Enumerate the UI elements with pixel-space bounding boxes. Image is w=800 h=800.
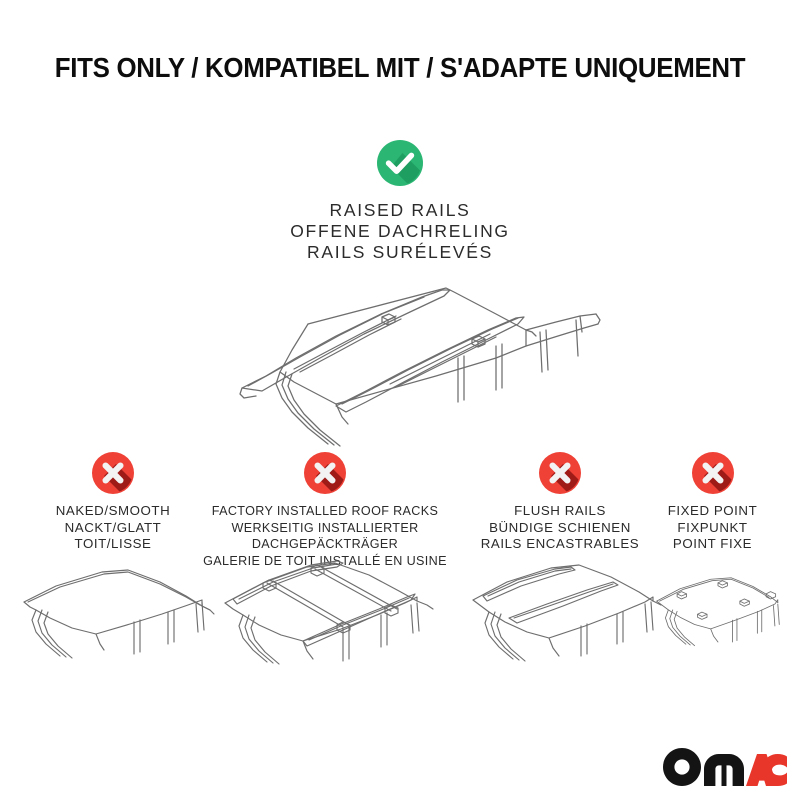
incompatible-label-fr: RAILS ENCASTRABLES [455, 536, 665, 553]
x-circle-icon [692, 452, 734, 494]
incompatible-label-fr: TOIT/LISSE [10, 536, 216, 553]
incompatible-section: NAKED/SMOOTH NACKT/GLATT TOIT/LISSE [0, 452, 800, 702]
incompatible-label-de: BÜNDIGE SCHIENEN [455, 520, 665, 537]
x-circle-icon [92, 452, 134, 494]
incompatible-label-fr: POINT FIXE [645, 536, 780, 553]
incompatible-label-de: NACKT/GLATT [10, 520, 216, 537]
incompatible-item-flush-rails: FLUSH RAILS BÜNDIGE SCHIENEN RAILS ENCAS… [455, 452, 665, 553]
incompatible-label-de-1: WERKSEITIG INSTALLIERTER [203, 520, 447, 537]
compatibility-infographic: FITS ONLY / KOMPATIBEL MIT / S'ADAPTE UN… [0, 0, 800, 800]
incompatible-item-factory-roof-racks: FACTORY INSTALLED ROOF RACKS WERKSEITIG … [203, 452, 447, 569]
compatible-label-en: RAISED RAILS [0, 200, 800, 221]
check-circle-icon [377, 140, 423, 186]
incompatible-labels: NAKED/SMOOTH NACKT/GLATT TOIT/LISSE [10, 503, 216, 553]
compatible-section: RAISED RAILS OFFENE DACHRELING RAILS SUR… [0, 140, 800, 263]
car-roof-naked-smooth-illustration [10, 560, 216, 680]
incompatible-label-en: FACTORY INSTALLED ROOF RACKS [203, 503, 447, 520]
incompatible-item-fixed-point: FIXED POINT FIXPUNKT POINT FIXE [645, 452, 780, 553]
x-circle-icon [539, 452, 581, 494]
incompatible-label-en: FLUSH RAILS [455, 503, 665, 520]
page-title: FITS ONLY / KOMPATIBEL MIT / S'ADAPTE UN… [24, 52, 776, 84]
compatible-labels: RAISED RAILS OFFENE DACHRELING RAILS SUR… [0, 200, 800, 263]
x-circle-icon [304, 452, 346, 494]
omac-logo [663, 748, 787, 786]
car-roof-flush-rails-illustration [455, 552, 665, 678]
incompatible-labels: FLUSH RAILS BÜNDIGE SCHIENEN RAILS ENCAS… [455, 503, 665, 553]
car-roof-fixed-point-illustration [645, 552, 780, 678]
incompatible-labels: FIXED POINT FIXPUNKT POINT FIXE [645, 503, 780, 553]
incompatible-label-en: NAKED/SMOOTH [10, 503, 216, 520]
incompatible-label-de: FIXPUNKT [645, 520, 780, 537]
incompatible-label-en: FIXED POINT [645, 503, 780, 520]
incompatible-item-naked-smooth: NAKED/SMOOTH NACKT/GLATT TOIT/LISSE [10, 452, 216, 553]
compatible-label-de: OFFENE DACHRELING [0, 221, 800, 242]
car-roof-raised-rails-illustration [196, 272, 606, 462]
car-roof-factory-roof-racks-illustration [203, 547, 447, 682]
compatible-label-fr: RAILS SURÉLEVÉS [0, 242, 800, 263]
